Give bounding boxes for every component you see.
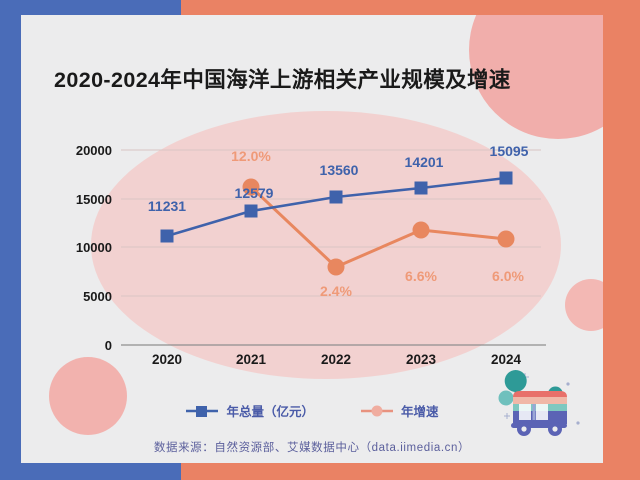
total-label-2022: 13560 bbox=[320, 162, 359, 178]
x-tick-2021: 2021 bbox=[236, 352, 267, 367]
total-label-2023: 14201 bbox=[405, 154, 444, 170]
total-marker-2022[interactable] bbox=[330, 191, 343, 204]
x-tick-2024: 2024 bbox=[491, 352, 522, 367]
total-marker-2023[interactable] bbox=[415, 182, 428, 195]
chart-canvas: 2020-2024年中国海洋上游相关产业规模及增速 20000 15000 10… bbox=[21, 15, 603, 463]
total-label-2024: 15095 bbox=[490, 143, 529, 159]
growth-label-2023: 6.6% bbox=[405, 268, 437, 284]
square-line-marker-icon bbox=[185, 404, 219, 418]
growth-label-2022: 2.4% bbox=[320, 283, 352, 299]
growth-marker-2024[interactable] bbox=[498, 231, 515, 248]
y-tick-15000: 15000 bbox=[76, 192, 112, 207]
y-tick-5000: 5000 bbox=[83, 289, 112, 304]
growth-rate-data-labels: 12.0% 2.4% 6.6% 6.0% bbox=[231, 148, 524, 299]
legend-label-total-volume: 年总量（亿元） bbox=[226, 401, 314, 420]
total-volume-line bbox=[167, 178, 506, 236]
total-marker-2024[interactable] bbox=[500, 172, 513, 185]
growth-label-2024: 6.0% bbox=[492, 268, 524, 284]
x-axis-tick-labels: 2020 2021 2022 2023 2024 bbox=[152, 352, 522, 367]
y-tick-20000: 20000 bbox=[76, 143, 112, 158]
growth-marker-2023[interactable] bbox=[413, 222, 430, 239]
x-tick-2020: 2020 bbox=[152, 352, 182, 367]
growth-marker-2022[interactable] bbox=[328, 259, 345, 276]
y-axis-tick-labels: 20000 15000 10000 5000 0 bbox=[76, 143, 112, 353]
total-marker-2021[interactable] bbox=[245, 205, 258, 218]
y-tick-0: 0 bbox=[105, 338, 112, 353]
total-label-2020: 11231 bbox=[148, 198, 186, 214]
x-tick-2023: 2023 bbox=[406, 352, 437, 367]
y-tick-10000: 10000 bbox=[76, 240, 112, 255]
truck-body bbox=[511, 391, 567, 436]
circle-line-marker-icon bbox=[360, 404, 394, 418]
growth-label-2021: 12.0% bbox=[231, 148, 271, 164]
delivery-truck-illustration-icon bbox=[495, 367, 599, 443]
total-label-2021: 12579 bbox=[235, 185, 274, 201]
x-tick-2022: 2022 bbox=[321, 352, 351, 367]
infographic-poster: 2020-2024年中国海洋上游相关产业规模及增速 20000 15000 10… bbox=[0, 0, 640, 480]
total-marker-2020[interactable] bbox=[161, 230, 174, 243]
legend-item-total-volume[interactable]: 年总量（亿元） bbox=[185, 401, 314, 420]
legend-item-growth-rate[interactable]: 年增速 bbox=[360, 401, 439, 420]
legend-label-growth-rate: 年增速 bbox=[401, 401, 439, 420]
